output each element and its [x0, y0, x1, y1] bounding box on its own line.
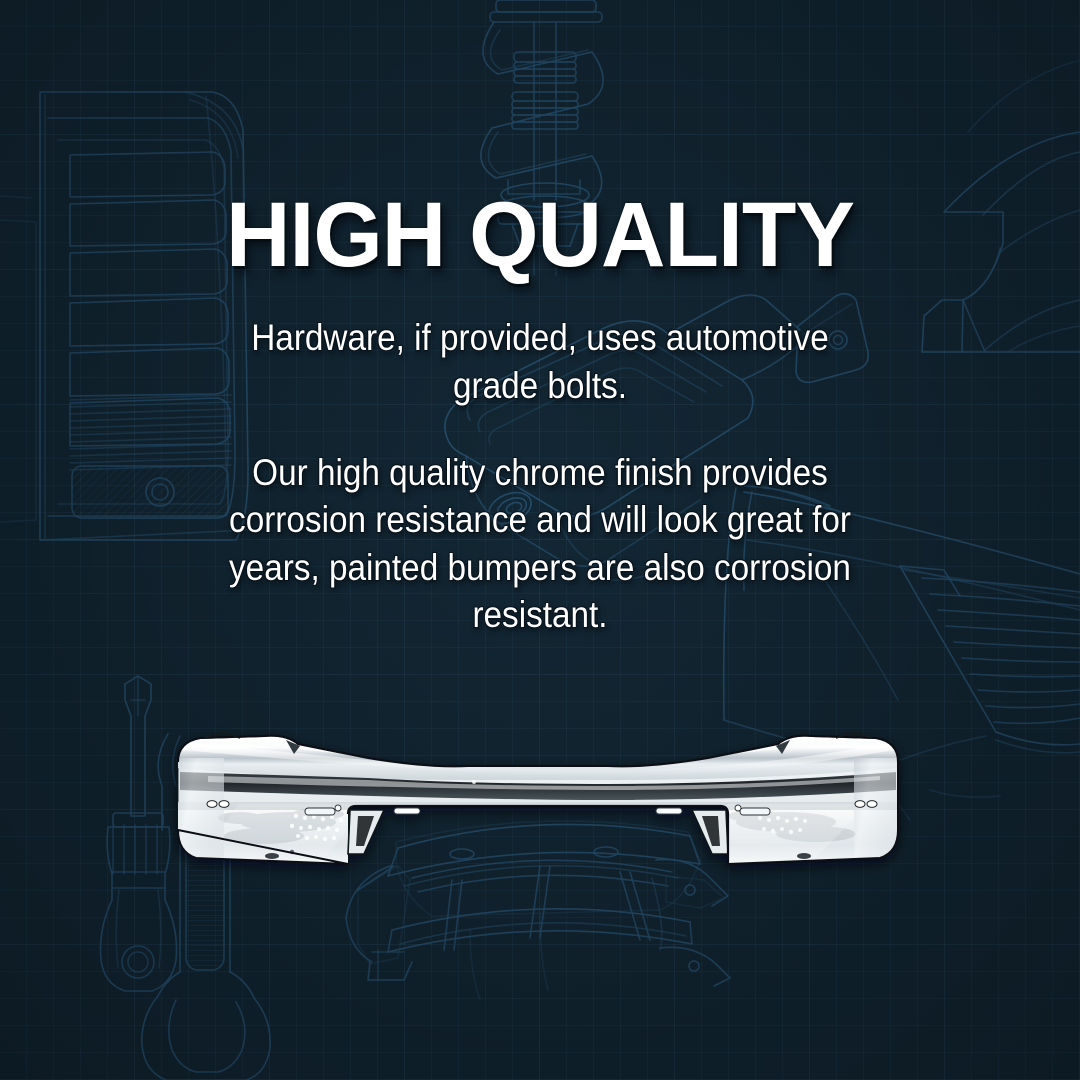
page-title: HIGH QUALITY	[104, 190, 977, 280]
body-paragraph-2: Our high quality chrome finish provides …	[198, 449, 882, 638]
product-image-chrome-bumper	[168, 718, 908, 888]
screwdriver-outline	[100, 676, 176, 991]
copy-block: HIGH QUALITY Hardware, if provided, uses…	[0, 190, 1080, 638]
promo-banner: HIGH QUALITY Hardware, if provided, uses…	[0, 0, 1080, 1080]
body-paragraph-1: Hardware, if provided, uses automotive g…	[216, 314, 864, 409]
